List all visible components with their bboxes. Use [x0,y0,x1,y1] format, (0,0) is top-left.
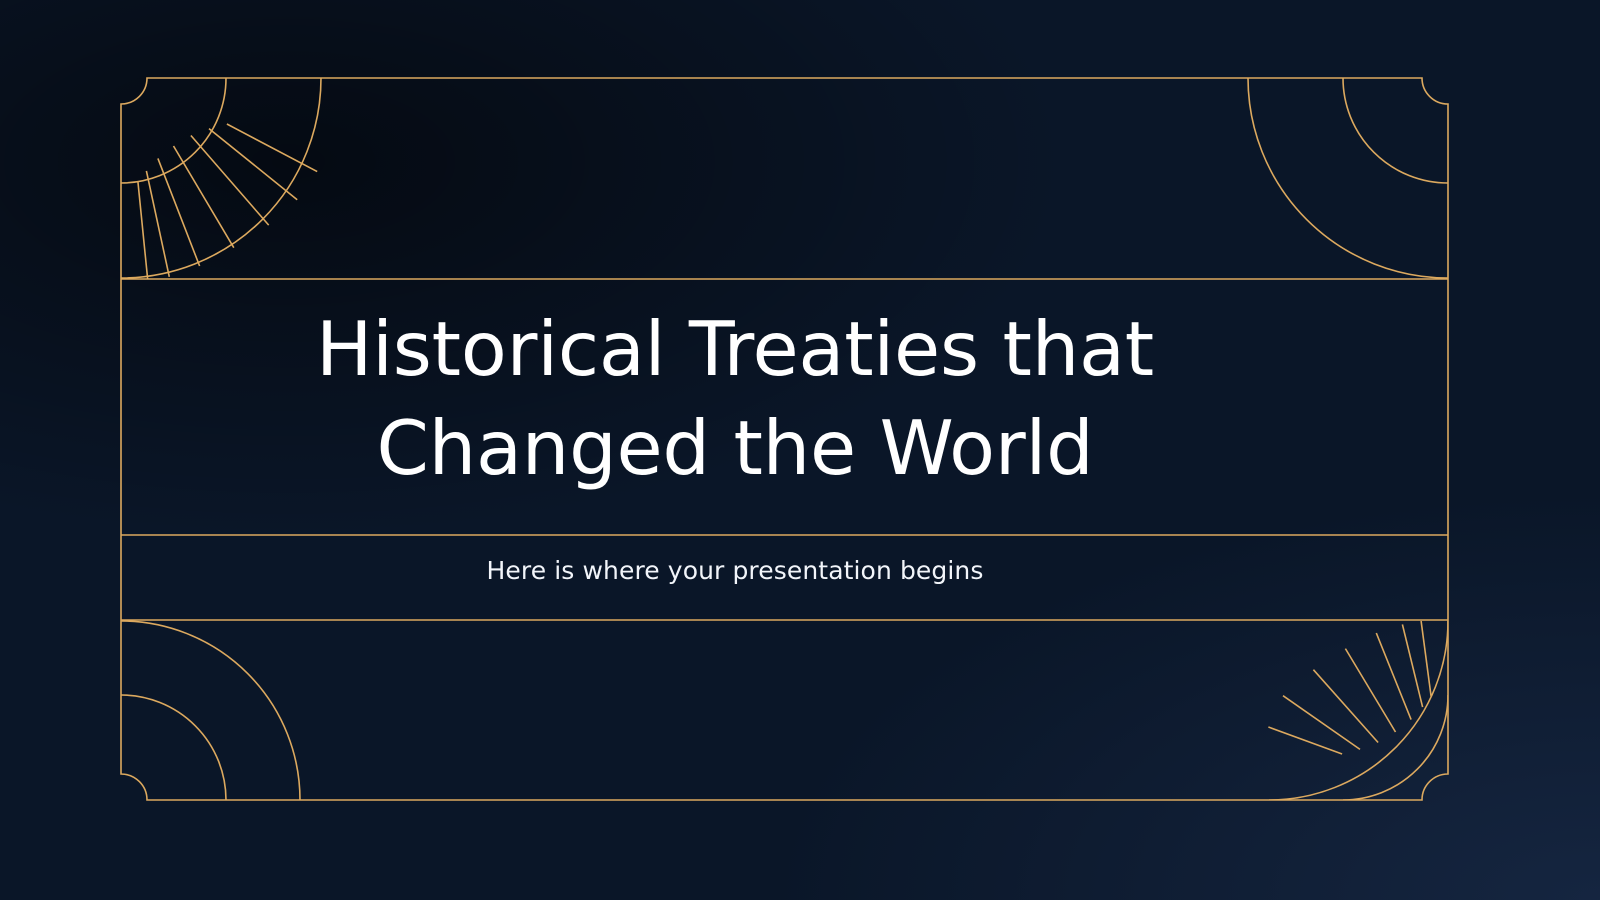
slide-subtitle: Here is where your presentation begins [150,556,1320,585]
slide-title: Historical Treaties that Changed the Wor… [150,300,1320,498]
presentation-slide: Historical Treaties that Changed the Wor… [0,0,1600,900]
